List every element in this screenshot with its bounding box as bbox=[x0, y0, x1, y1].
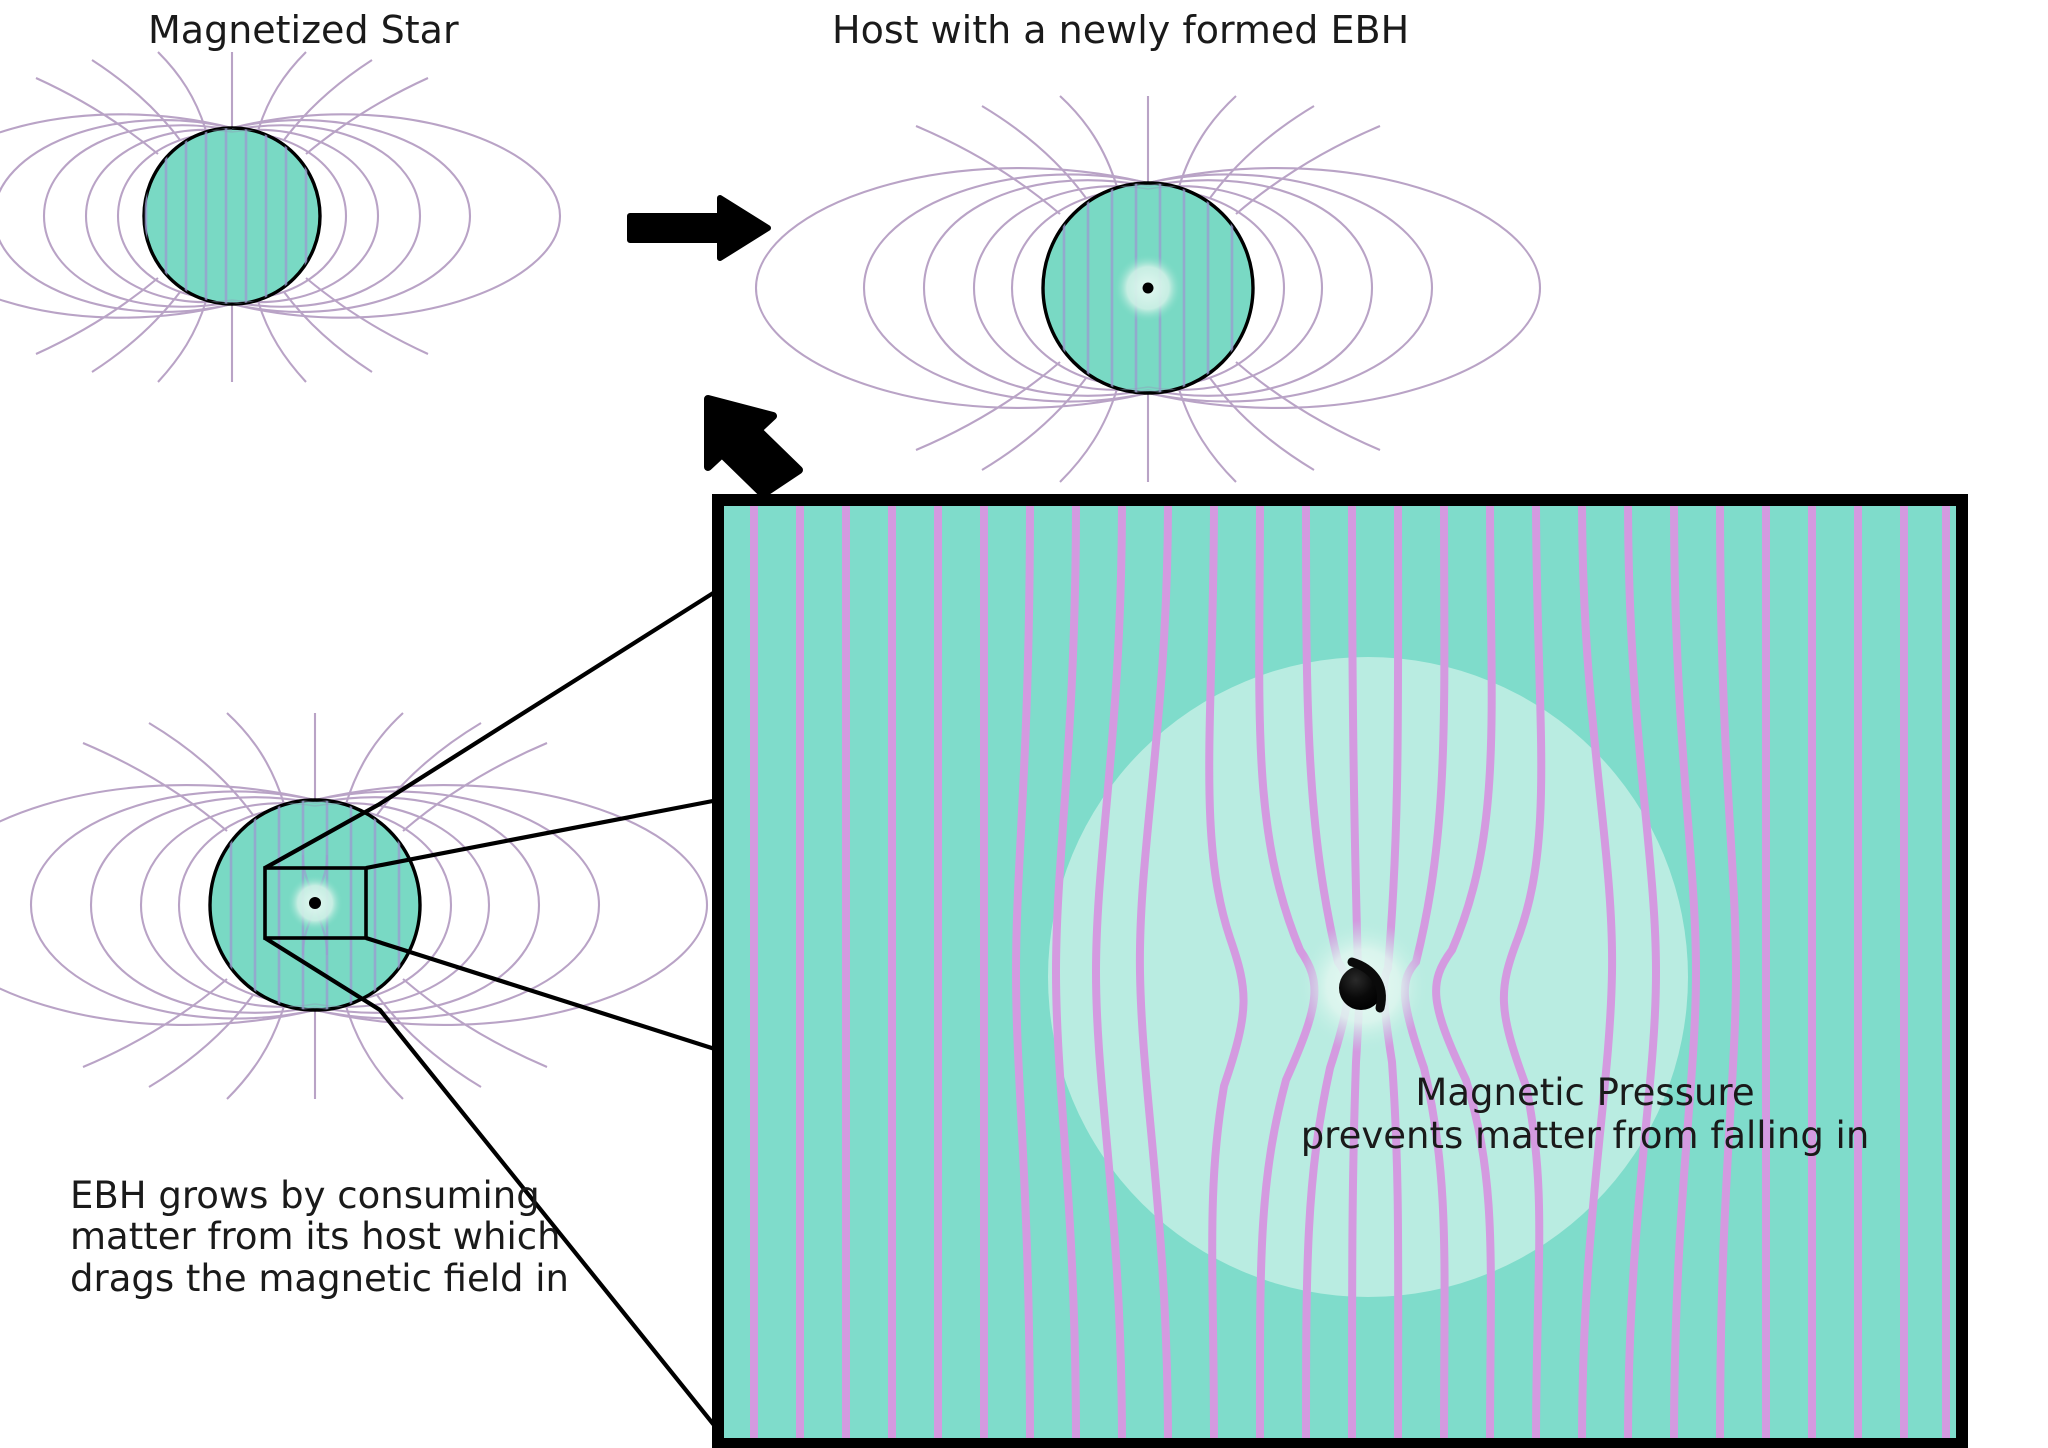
growing-ebh-panel bbox=[0, 713, 707, 1099]
arrow-star-to-host bbox=[630, 198, 768, 258]
ebh-dot bbox=[1143, 283, 1154, 294]
inset-caption-line-2: prevents matter from falling in bbox=[1255, 1115, 1915, 1158]
magnetic-pressure-inset bbox=[718, 500, 1962, 1444]
ebh-dot bbox=[309, 897, 321, 909]
star-body bbox=[144, 128, 320, 304]
page-title-magnetized-star: Magnetized Star bbox=[148, 8, 459, 52]
figure-root: Magnetized Star Host with a newly formed… bbox=[0, 0, 2048, 1448]
caption-line-3: drags the magnetic field in bbox=[70, 1258, 670, 1299]
page-title-host-with-ebh: Host with a newly formed EBH bbox=[832, 8, 1409, 52]
caption-magnetic-pressure: Magnetic Pressure prevents matter from f… bbox=[1255, 1072, 1915, 1157]
caption-line-1: EBH grows by consuming bbox=[70, 1175, 670, 1216]
host-with-ebh-panel bbox=[756, 96, 1540, 482]
inset-caption-line-1: Magnetic Pressure bbox=[1255, 1072, 1915, 1115]
magnetized-star-panel bbox=[0, 52, 560, 382]
arrow-host-to-growing bbox=[708, 399, 799, 494]
caption-ebh-grows: EBH grows by consuming matter from its h… bbox=[70, 1175, 670, 1299]
caption-line-2: matter from its host which bbox=[70, 1216, 670, 1257]
